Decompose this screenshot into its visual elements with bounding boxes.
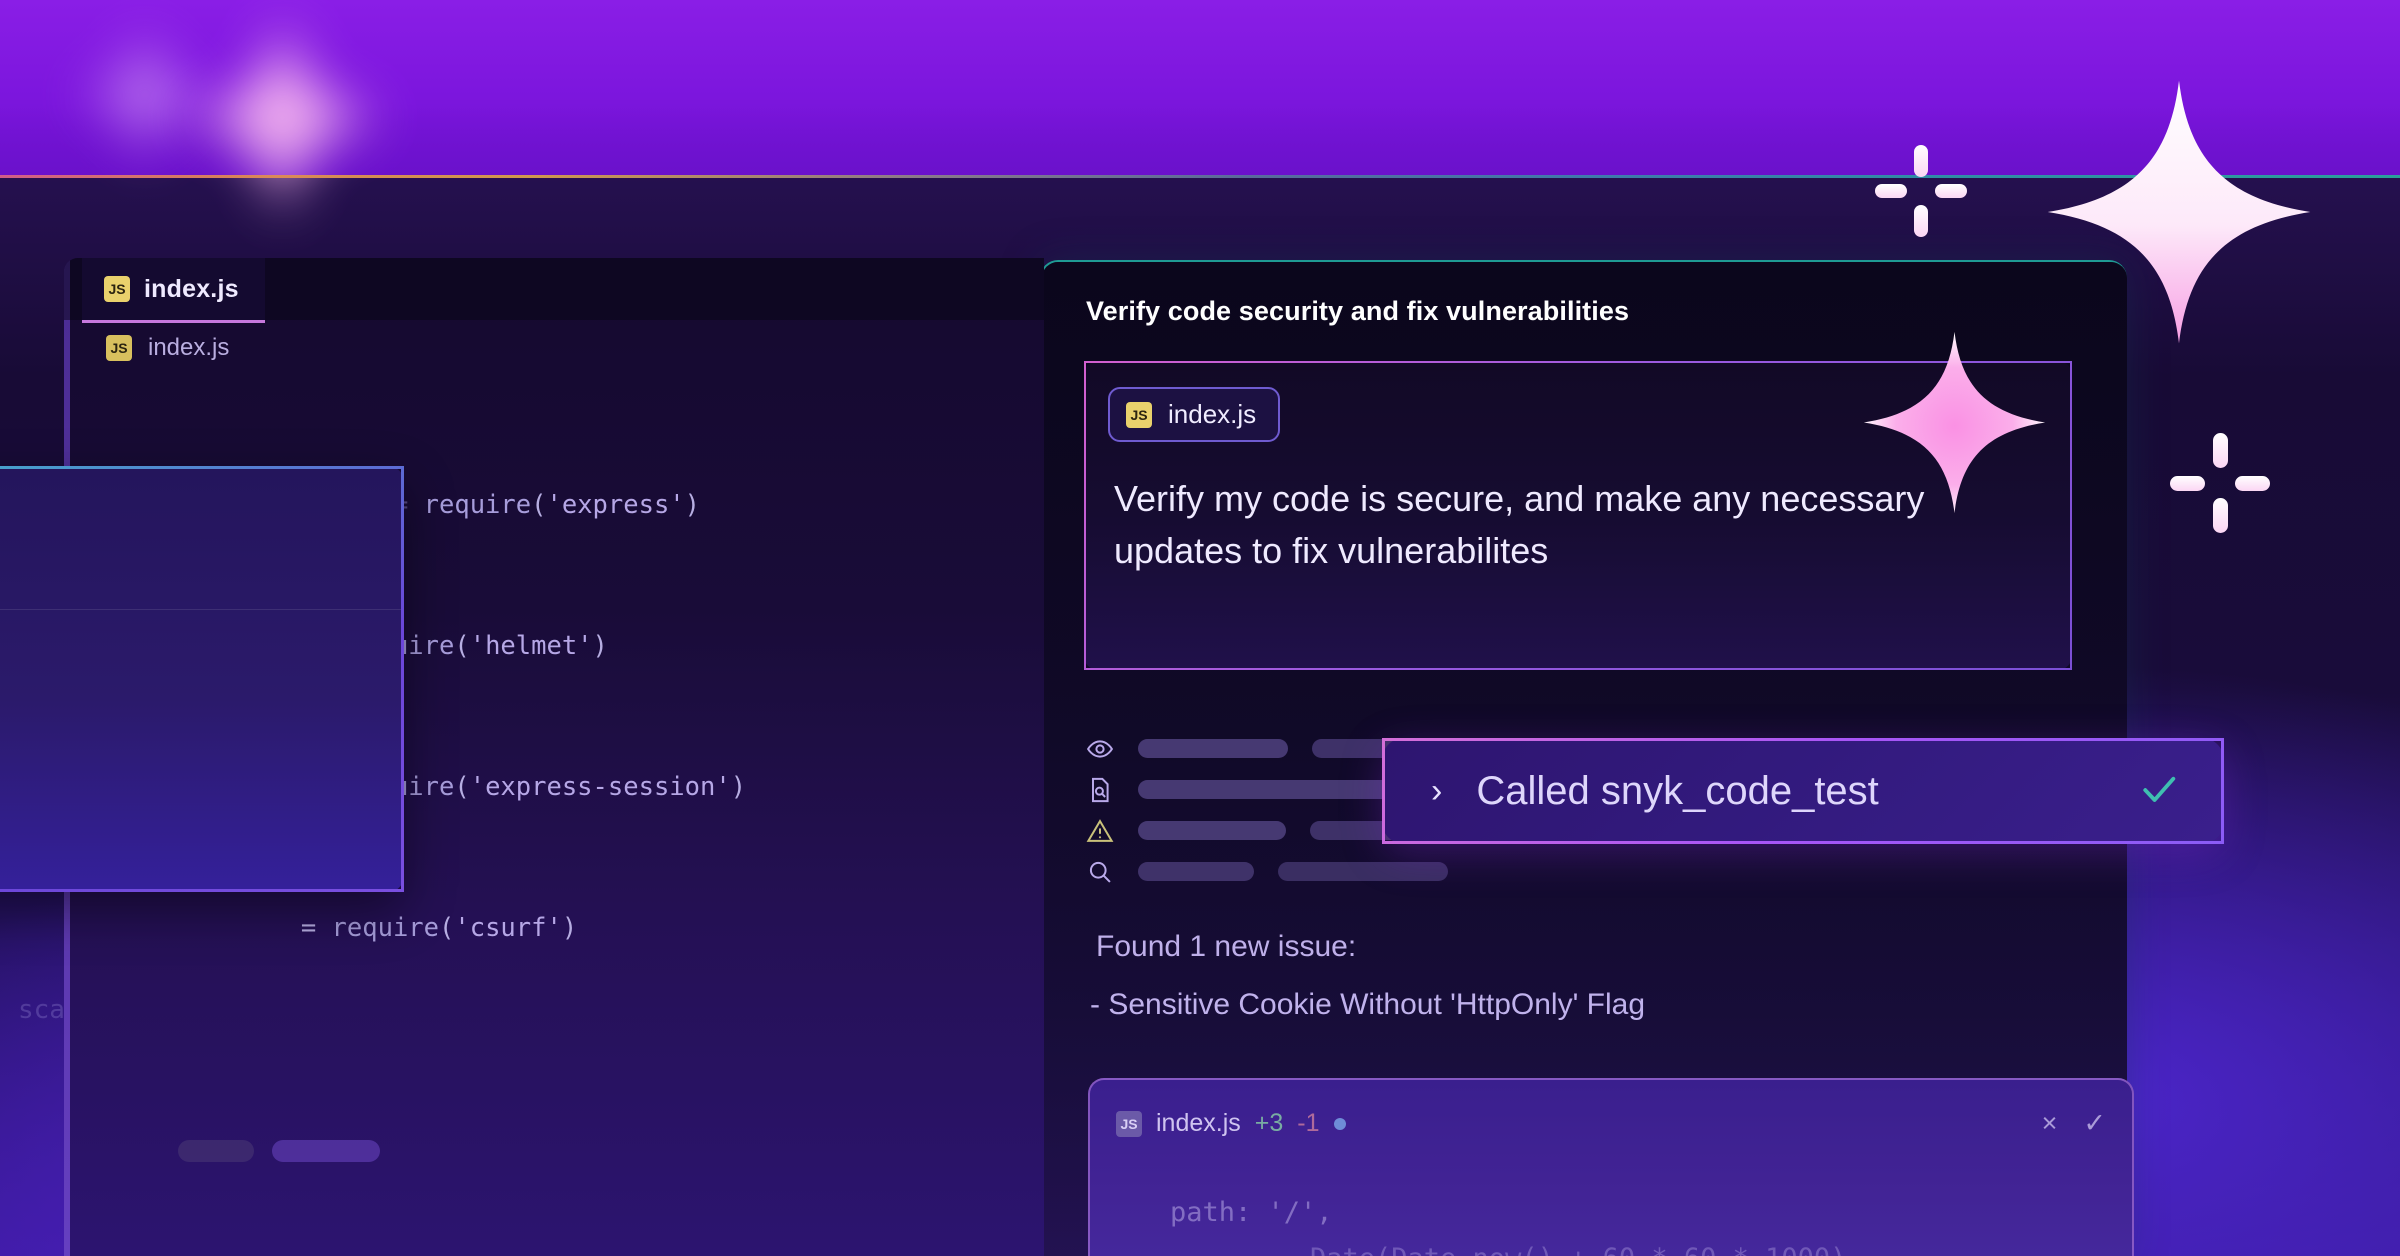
editor-tab-index-js[interactable]: JS index.js	[82, 258, 265, 323]
document-search-icon	[1086, 776, 1114, 804]
js-file-icon: JS	[1116, 1111, 1142, 1137]
diff-code-line: path: '/',	[1170, 1190, 1333, 1236]
code-text: = require('csurf')	[178, 905, 577, 952]
diff-card: JS index.js +3 -1 × ✓ path: '/', Date(Da…	[1088, 1078, 2134, 1256]
sparkle-icon	[2045, 78, 2313, 351]
check-icon	[2137, 767, 2181, 816]
editor-tabbar: JS index.js	[64, 258, 1044, 320]
js-file-icon: JS	[1126, 402, 1152, 428]
horizontal-accent-divider	[0, 175, 2400, 178]
blurred-sparkle-icon	[175, 10, 390, 230]
page-title: Verify code security and fix vulnerabili…	[1086, 296, 1629, 327]
breadcrumb-label: index.js	[148, 334, 229, 362]
diff-additions-count: +3	[1255, 1109, 1284, 1138]
code-line: = require('csurf')	[94, 905, 1044, 952]
chevron-right-icon[interactable]: ›	[1431, 774, 1442, 808]
eye-icon	[1086, 735, 1114, 763]
breadcrumb[interactable]: JS index.js	[106, 334, 229, 362]
result-issue-text: - Sensitive Cookie Without 'HttpOnly' Fl…	[1090, 988, 1645, 1022]
modified-indicator-icon	[1334, 1118, 1346, 1130]
crosshair-plus-icon	[1875, 145, 1967, 237]
prompt-text: Verify my code is secure, and make any n…	[1114, 473, 1984, 577]
diff-code-line: Date(Date.now() + 60 * 60 * 1000)	[1310, 1236, 1846, 1256]
skeleton-bar	[1138, 821, 1286, 840]
divider	[0, 609, 401, 610]
skeleton-bar	[1138, 780, 1418, 799]
skeleton-list-item	[1086, 851, 1786, 892]
tool-call-pill[interactable]: › Called snyk_code_test	[1382, 738, 2224, 844]
diff-card-header: JS index.js +3 -1 × ✓	[1116, 1108, 2106, 1139]
sparkle-icon	[1862, 330, 2047, 520]
prompt-file-chip[interactable]: JS index.js	[1108, 387, 1280, 442]
skeleton-bar	[178, 1140, 254, 1162]
skeleton-bar	[1138, 862, 1254, 881]
diff-deletions-count: -1	[1297, 1109, 1319, 1138]
screenshot-canvas: scans are run and prompts the LLM to fix…	[0, 0, 2400, 1256]
diff-card-actions: × ✓	[2042, 1108, 2106, 1139]
magnifier-icon	[1086, 858, 1114, 886]
skeleton-bar	[1138, 739, 1288, 758]
crosshair-plus-icon	[2170, 433, 2270, 533]
memories-panel[interactable]: emories & Docs	[0, 466, 404, 892]
prompt-file-chip-label: index.js	[1168, 399, 1256, 430]
warning-triangle-icon	[1086, 817, 1114, 845]
diff-filename: index.js	[1156, 1109, 1241, 1138]
skeleton-bar	[1278, 862, 1448, 881]
code-skeleton-row	[94, 1140, 1044, 1187]
js-file-icon: JS	[106, 335, 132, 361]
editor-tab-label: index.js	[144, 275, 239, 304]
reject-changes-button[interactable]: ×	[2042, 1108, 2058, 1139]
skeleton-bar	[272, 1140, 380, 1162]
result-summary-text: Found 1 new issue:	[1096, 930, 1356, 964]
tool-call-label: Called snyk_code_test	[1476, 769, 2103, 814]
accept-changes-button[interactable]: ✓	[2083, 1108, 2106, 1139]
js-file-icon: JS	[104, 276, 130, 302]
